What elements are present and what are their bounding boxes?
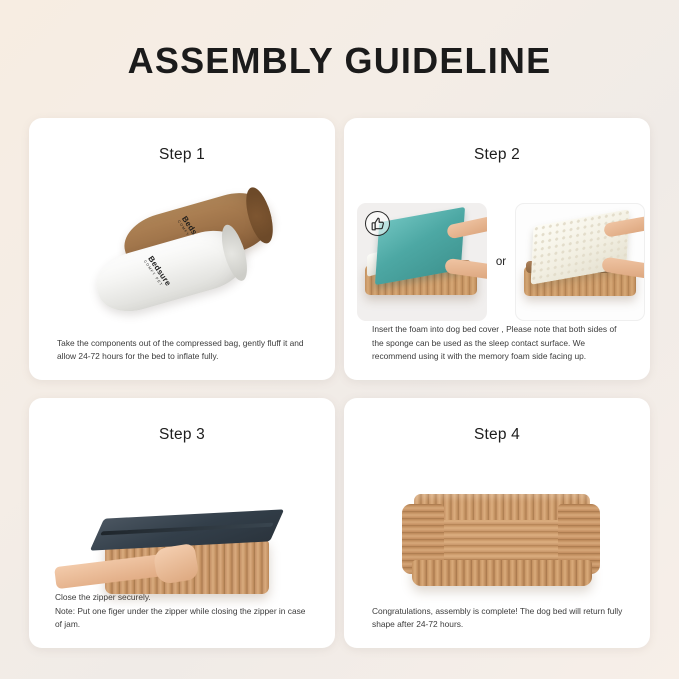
step-card-2: Step 2 [344,118,650,380]
assembly-guideline-page: ASSEMBLY GUIDELINE Step 1 BedsureCOMFY P… [0,0,679,679]
bed-front-edge [412,560,592,586]
step-4-title: Step 4 [344,426,650,444]
compressed-bags-illustration: BedsureCOMFY PET BedsureCOMFY PET [85,202,285,322]
step-card-1: Step 1 BedsureCOMFY PET BedsureCOMFY PET… [29,118,335,380]
foam-option-memory-tile [515,203,645,321]
step-3-artwork [29,444,335,591]
step-card-4: Step 4 Congratulations, assembly is comp… [344,398,650,648]
thumbs-up-icon [365,211,390,236]
white-bag-brand-label: BedsureCOMFY PET [143,254,173,290]
foam-option-tiles: or [357,202,639,322]
step-card-3: Step 3 Close the zipper securely. Note: … [29,398,335,648]
step-2-artwork: or [344,164,650,323]
page-title: ASSEMBLY GUIDELINE [0,40,679,82]
step-1-artwork: BedsureCOMFY PET BedsureCOMFY PET [29,164,335,337]
or-separator: or [493,256,509,268]
foam-option-teal-tile [357,203,487,321]
steps-grid: Step 1 BedsureCOMFY PET BedsureCOMFY PET… [29,118,650,648]
zipper-closing-illustration [73,498,293,608]
step-2-title: Step 2 [344,146,650,164]
step-4-artwork [344,444,650,605]
step-1-caption: Take the components out of the compresse… [29,337,335,380]
step-1-title: Step 1 [29,146,335,164]
step-4-caption: Congratulations, assembly is complete! T… [344,605,650,648]
step-2-caption: Insert the foam into dog bed cover , Ple… [344,323,650,380]
finished-dog-bed-illustration [396,490,606,600]
step-3-title: Step 3 [29,426,335,444]
